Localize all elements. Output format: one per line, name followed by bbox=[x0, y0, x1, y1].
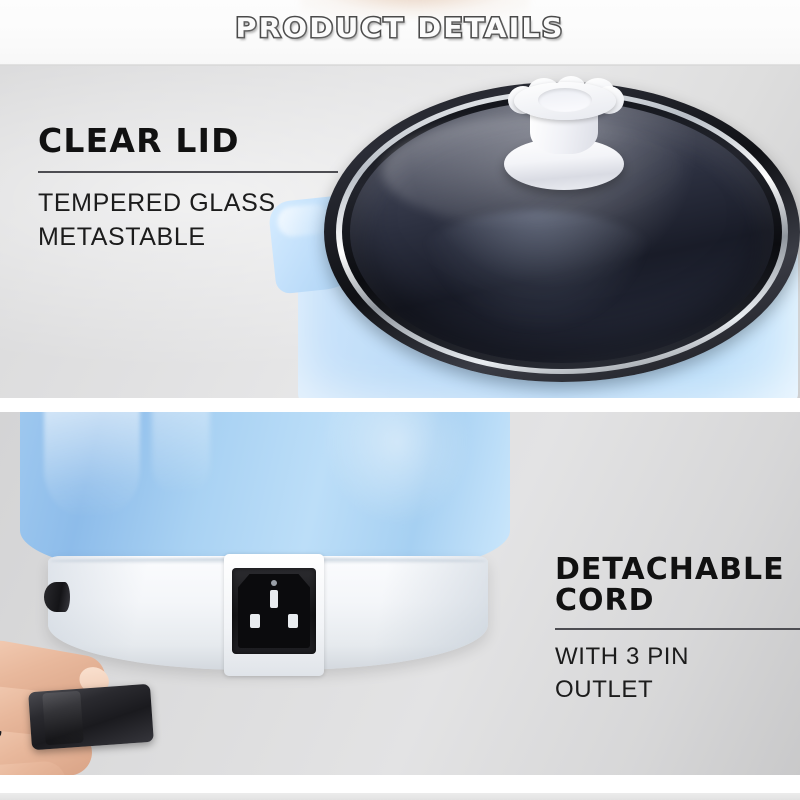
page-title: PRODUCT DETAILS bbox=[0, 13, 800, 44]
lid-knob-flower-cap bbox=[508, 78, 622, 122]
three-pin-power-inlet-icon bbox=[238, 574, 310, 648]
glass-reflection-arc bbox=[402, 210, 672, 350]
panel-separator bbox=[0, 398, 800, 412]
detachable-cord-divider bbox=[555, 628, 800, 630]
detachable-cord-plug bbox=[28, 684, 154, 750]
clear-lid-subtitle-line2: METASTABLE bbox=[38, 221, 338, 253]
lid-knob-dimple bbox=[538, 88, 592, 112]
footer-spacer bbox=[0, 775, 800, 793]
footer-band bbox=[0, 793, 800, 800]
clear-lid-text-block: CLEAR LID TEMPERED GLASS METASTABLE bbox=[38, 124, 338, 253]
clear-lid-divider bbox=[38, 171, 338, 173]
detachable-cord-subtitle-line1: WITH 3 PIN bbox=[555, 642, 800, 673]
body-highlight-right bbox=[322, 412, 472, 526]
hand-holding-plug bbox=[0, 644, 210, 775]
body-highlight-left bbox=[44, 412, 140, 516]
clear-lid-subtitle-line1: TEMPERED GLASS bbox=[38, 187, 338, 219]
page-header: PRODUCT DETAILS bbox=[0, 0, 800, 66]
detachable-cord-text-block: DETACHABLE CORD WITH 3 PIN OUTLET bbox=[555, 555, 800, 706]
clear-lid-product-image bbox=[262, 66, 800, 398]
clear-lid-heading: CLEAR LID bbox=[38, 124, 338, 158]
product-details-page: PRODUCT DETAILS CLEAR LID TEMPERED bbox=[0, 0, 800, 800]
panel-clear-lid: CLEAR LID TEMPERED GLASS METASTABLE bbox=[0, 66, 800, 398]
panel-detachable-cord: DETACHABLE CORD WITH 3 PIN OUTLET bbox=[0, 412, 800, 775]
detachable-cord-heading-line1: DETACHABLE bbox=[555, 555, 800, 586]
base-side-knob bbox=[44, 582, 70, 612]
detachable-cord-subtitle-line2: OUTLET bbox=[555, 675, 800, 706]
detachable-cord-heading-line2: CORD bbox=[555, 586, 800, 617]
body-highlight-mid bbox=[152, 412, 210, 492]
